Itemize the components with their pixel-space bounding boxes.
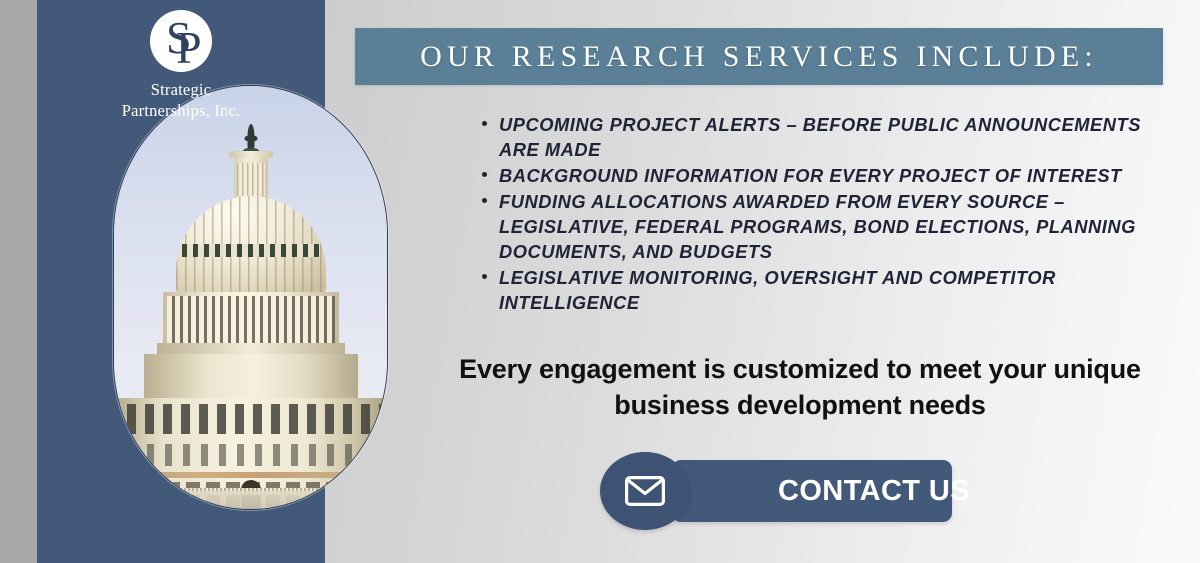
dome-lantern xyxy=(234,156,268,200)
bullet-dot-icon xyxy=(482,198,487,203)
contact-us-label: CONTACT US xyxy=(778,475,970,508)
page-title: Our Research Services Include: xyxy=(420,40,1098,74)
statue-of-freedom-icon xyxy=(247,124,254,150)
list-item-label: Background information for every project… xyxy=(499,165,1122,186)
bullet-dot-icon xyxy=(482,172,487,177)
capitol-dome xyxy=(176,196,326,294)
dome-base xyxy=(144,354,358,402)
dome-colonnade xyxy=(163,292,339,354)
list-item: Upcoming project alerts – before public … xyxy=(477,112,1157,162)
capitol-building xyxy=(114,86,387,509)
bullet-dot-icon xyxy=(482,274,487,279)
contact-us-button[interactable]: CONTACT US xyxy=(672,460,952,522)
list-item: Funding allocations awarded from every s… xyxy=(477,189,1157,264)
list-item-label: Legislative monitoring, oversight and co… xyxy=(499,267,1056,313)
list-item: Background information for every project… xyxy=(477,163,1157,188)
sp-monogram-icon: S P xyxy=(150,10,212,72)
left-edge-strip xyxy=(0,0,37,563)
header-banner: Our Research Services Include: xyxy=(355,28,1163,85)
us-capitol-photo xyxy=(113,85,388,510)
services-list: Upcoming project alerts – before public … xyxy=(477,112,1157,317)
promo-poster: S P Strategic Partnerships, Inc. xyxy=(0,0,1200,563)
brand-name-line2: Partnerships, Inc. xyxy=(122,100,241,121)
brand-name-line1: Strategic xyxy=(122,79,241,100)
envelope-icon[interactable] xyxy=(600,452,690,530)
bullet-dot-icon xyxy=(482,121,487,126)
list-item-label: Funding allocations awarded from every s… xyxy=(499,191,1136,262)
brand-name: Strategic Partnerships, Inc. xyxy=(122,79,241,121)
list-item-label: Upcoming project alerts – before public … xyxy=(499,114,1141,160)
monogram-letter-p: P xyxy=(176,25,202,71)
capitol-facade xyxy=(114,398,387,509)
brand-block: S P Strategic Partnerships, Inc. xyxy=(37,10,325,121)
list-item: Legislative monitoring, oversight and co… xyxy=(477,265,1157,315)
tagline: Every engagement is customized to meet y… xyxy=(440,352,1160,423)
contact-us-cta[interactable]: CONTACT US xyxy=(600,452,952,530)
